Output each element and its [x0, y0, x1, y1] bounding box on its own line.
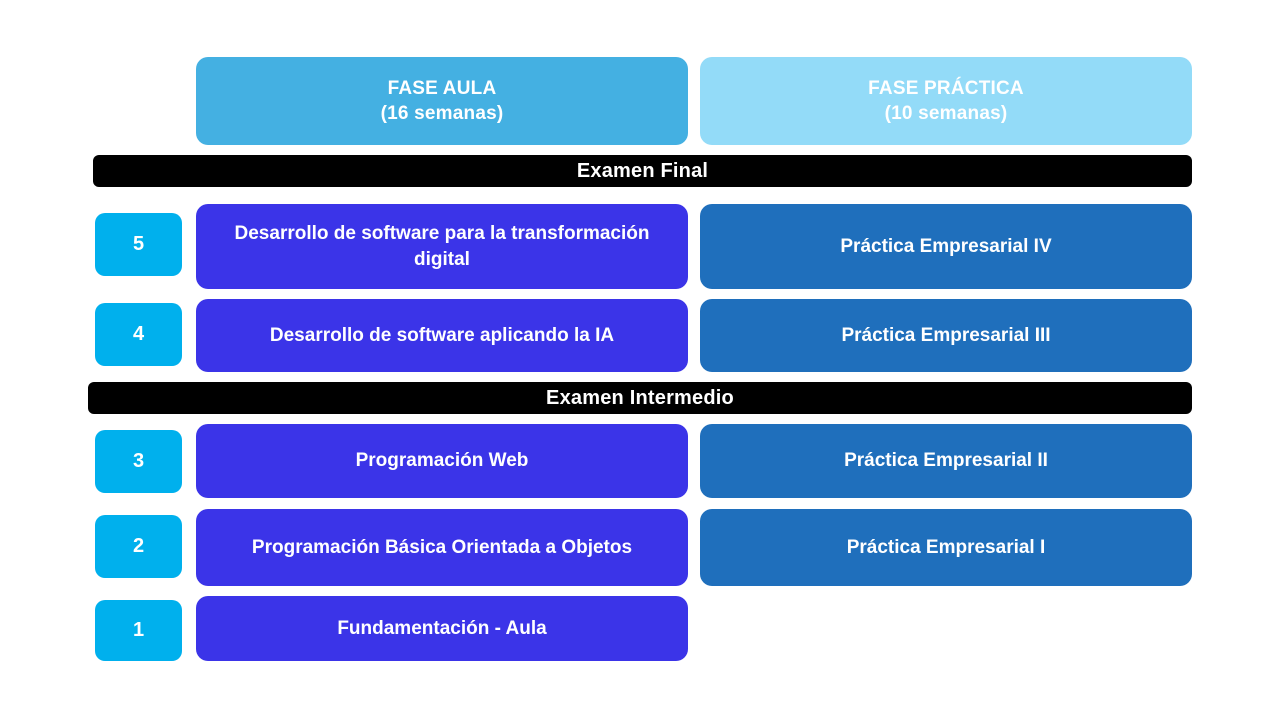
practice-box-level-3: Práctica Empresarial II — [700, 424, 1192, 498]
exam-banner-intermedio: Examen Intermedio — [88, 382, 1192, 414]
phase-header-practica: FASE PRÁCTICA (10 semanas) — [700, 57, 1192, 145]
level-badge-4: 4 — [95, 303, 182, 366]
course-box-level-2: Programación Básica Orientada a Objetos — [196, 509, 688, 586]
level-badge-3: 3 — [95, 430, 182, 493]
course-box-level-4: Desarrollo de software aplicando la IA — [196, 299, 688, 372]
course-box-level-3: Programación Web — [196, 424, 688, 498]
phase-practica-title: FASE PRÁCTICA — [868, 76, 1024, 101]
level-badge-2: 2 — [95, 515, 182, 578]
practice-box-level-5: Práctica Empresarial IV — [700, 204, 1192, 289]
exam-banner-final: Examen Final — [93, 155, 1192, 187]
course-box-level-5: Desarrollo de software para la transform… — [196, 204, 688, 289]
course-box-level-1: Fundamentación - Aula — [196, 596, 688, 661]
phase-aula-duration: (16 semanas) — [381, 101, 504, 126]
level-badge-5: 5 — [95, 213, 182, 276]
phase-practica-duration: (10 semanas) — [885, 101, 1008, 126]
practice-box-level-4: Práctica Empresarial III — [700, 299, 1192, 372]
level-badge-1: 1 — [95, 600, 182, 661]
phase-header-aula: FASE AULA (16 semanas) — [196, 57, 688, 145]
curriculum-roadmap-diagram: FASE AULA (16 semanas) FASE PRÁCTICA (10… — [0, 0, 1280, 720]
practice-box-level-2: Práctica Empresarial I — [700, 509, 1192, 586]
phase-aula-title: FASE AULA — [388, 76, 497, 101]
